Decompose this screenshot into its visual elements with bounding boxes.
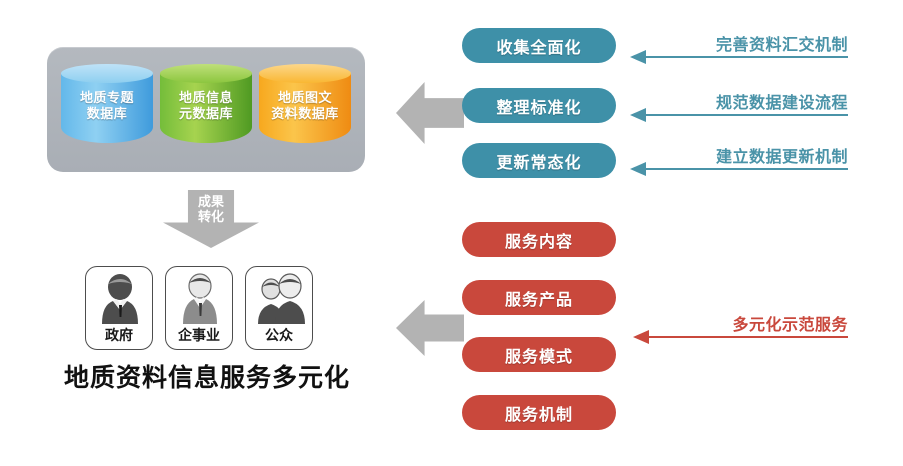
annotation-data-construction-process: 规范数据建设流程: [630, 80, 848, 124]
audience-group: 政府 企事业: [85, 266, 313, 356]
annotation-text: 完善资料汇交机制: [716, 31, 848, 55]
geological-database-panel: 地质专题 数据库 地质信息 元数据库 地质图文 资料数据库: [47, 47, 365, 172]
transformation-down-arrow: 成果 转化: [163, 190, 259, 248]
arrow-head-left-icon: [630, 108, 646, 122]
enterprise-person-icon: [166, 272, 232, 324]
big-left-arrow-bottom: [396, 300, 464, 356]
big-left-arrow-top: [396, 82, 464, 144]
audience-title: 地质资料信息服务多元化: [47, 358, 367, 394]
pill-service-model[interactable]: 服务模式: [462, 337, 616, 372]
audience-card-public[interactable]: 公众: [245, 266, 313, 350]
audience-card-government[interactable]: 政府: [85, 266, 153, 350]
annotation-submission-mechanism: 完善资料汇交机制: [630, 22, 848, 66]
cylinder-documents[interactable]: 地质图文 资料数据库: [259, 64, 351, 152]
pill-service-mechanism[interactable]: 服务机制: [462, 395, 616, 430]
cylinder-metadata-label: 地质信息 元数据库: [160, 90, 252, 122]
arrow-head-left-icon: [633, 330, 649, 344]
transformation-label: 成果 转化: [163, 194, 259, 224]
audience-label-enterprise: 企事业: [166, 325, 232, 345]
pill-routine-update[interactable]: 更新常态化: [462, 143, 616, 178]
annotation-text: 建立数据更新机制: [716, 143, 848, 167]
audience-label-government: 政府: [86, 325, 152, 345]
cylinder-top-ellipse: [61, 64, 153, 83]
annotation-line: [647, 336, 848, 338]
cylinder-thematic-label: 地质专题 数据库: [61, 90, 153, 122]
pill-service-content[interactable]: 服务内容: [462, 222, 616, 257]
cylinder-top-ellipse: [259, 64, 351, 83]
pill-standardized-organization[interactable]: 整理标准化: [462, 88, 616, 123]
public-people-icon: [246, 272, 312, 324]
arrow-head-left-icon: [630, 50, 646, 64]
government-person-icon: [86, 272, 152, 324]
cylinder-documents-label: 地质图文 资料数据库: [259, 90, 351, 122]
arrow-head-left-icon: [630, 162, 646, 176]
cylinder-metadata[interactable]: 地质信息 元数据库: [160, 64, 252, 152]
audience-card-enterprise[interactable]: 企事业: [165, 266, 233, 350]
cylinder-top-ellipse: [160, 64, 252, 83]
diagram-canvas: 地质专题 数据库 地质信息 元数据库 地质图文 资料数据库 成果 转化: [0, 0, 903, 466]
pill-service-product[interactable]: 服务产品: [462, 280, 616, 315]
annotation-text: 规范数据建设流程: [716, 89, 848, 113]
cylinder-thematic[interactable]: 地质专题 数据库: [61, 64, 153, 152]
annotation-diversified-demo-service: 多元化示范服务: [633, 302, 848, 346]
pill-comprehensive-collection[interactable]: 收集全面化: [462, 28, 616, 63]
audience-label-public: 公众: [246, 325, 312, 345]
annotation-line: [644, 56, 848, 58]
annotation-text: 多元化示范服务: [732, 311, 848, 335]
annotation-update-mechanism: 建立数据更新机制: [630, 134, 848, 178]
annotation-line: [644, 168, 848, 170]
annotation-line: [644, 114, 848, 116]
